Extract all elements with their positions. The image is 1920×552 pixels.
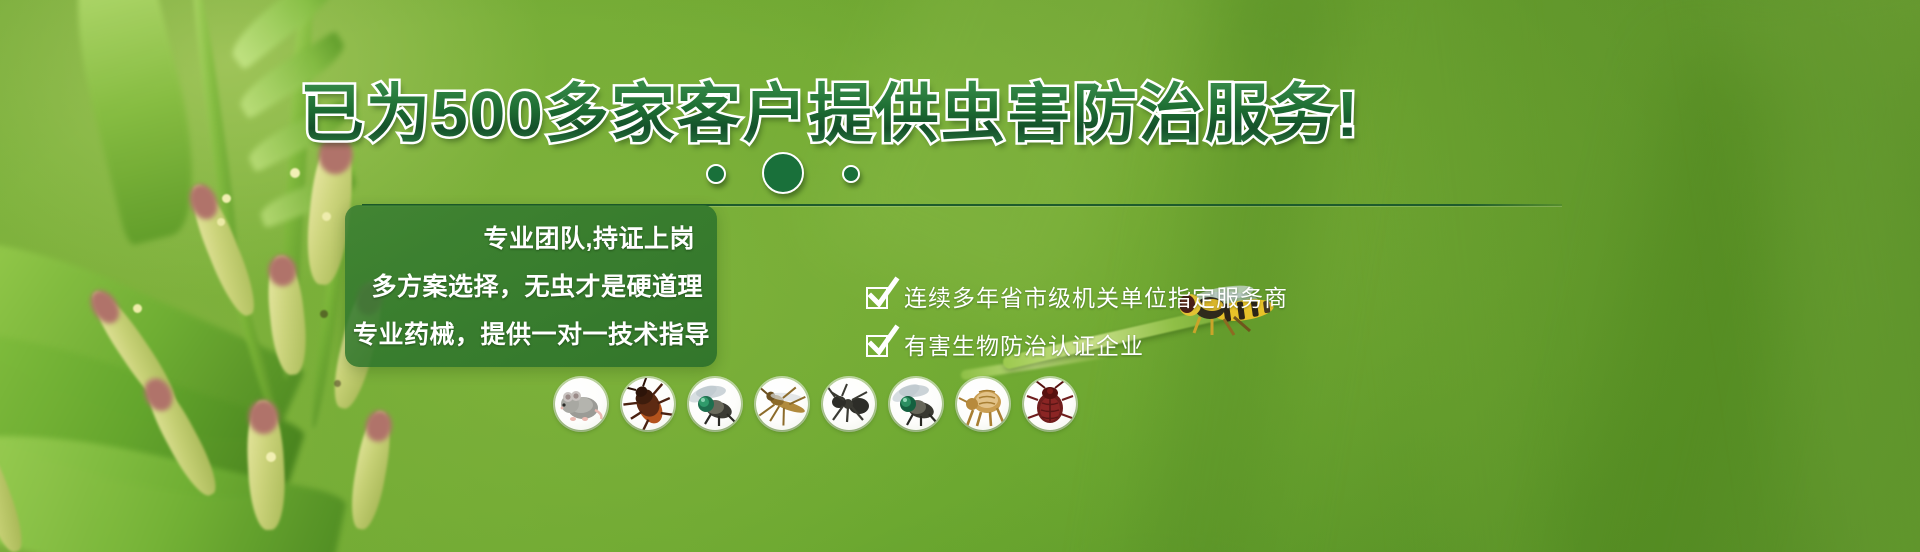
pest-types-row — [555, 378, 1076, 430]
decorative-dots — [706, 152, 896, 200]
checkbox-checked-icon — [866, 331, 892, 357]
selling-point-line-3: 专业药械，提供一对一技术指导 — [353, 315, 710, 351]
flea-icon[interactable] — [957, 378, 1009, 430]
dot-large-center-icon — [762, 152, 804, 194]
credential-label: 连续多年省市级机关单位指定服务商 — [904, 279, 1288, 313]
selling-point-line-1: 专业团队,持证上岗 — [484, 219, 695, 255]
list-item: 连续多年省市级机关单位指定服务商 — [866, 272, 1288, 320]
ant-icon[interactable] — [823, 378, 875, 430]
mouse-icon[interactable] — [555, 378, 607, 430]
credentials-checklist: 连续多年省市级机关单位指定服务商 有害生物防治认证企业 — [866, 272, 1288, 368]
selling-point-line-2: 多方案选择，无虫才是硬道理 — [371, 267, 703, 303]
fly-icon[interactable] — [689, 378, 741, 430]
dot-small-right-icon — [842, 165, 860, 183]
mosquito-icon[interactable] — [756, 378, 808, 430]
credential-label: 有害生物防治认证企业 — [904, 327, 1144, 361]
cockroach-icon[interactable] — [622, 378, 674, 430]
dot-small-left-icon — [706, 164, 726, 184]
pest-control-hero-banner: 已为500多家客户提供虫害防治服务! 已为500多家客户提供虫害防治服务! 专业… — [0, 0, 1920, 552]
list-item: 有害生物防治认证企业 — [866, 320, 1288, 368]
page-title: 已为500多家客户提供虫害防治服务! — [300, 78, 1360, 150]
selling-points-panel: 专业团队,持证上岗 多方案选择，无虫才是硬道理 专业药械，提供一对一技术指导 — [345, 205, 717, 367]
bedbug-icon[interactable] — [1024, 378, 1076, 430]
blowfly-icon[interactable] — [890, 378, 942, 430]
checkbox-checked-icon — [866, 283, 892, 309]
